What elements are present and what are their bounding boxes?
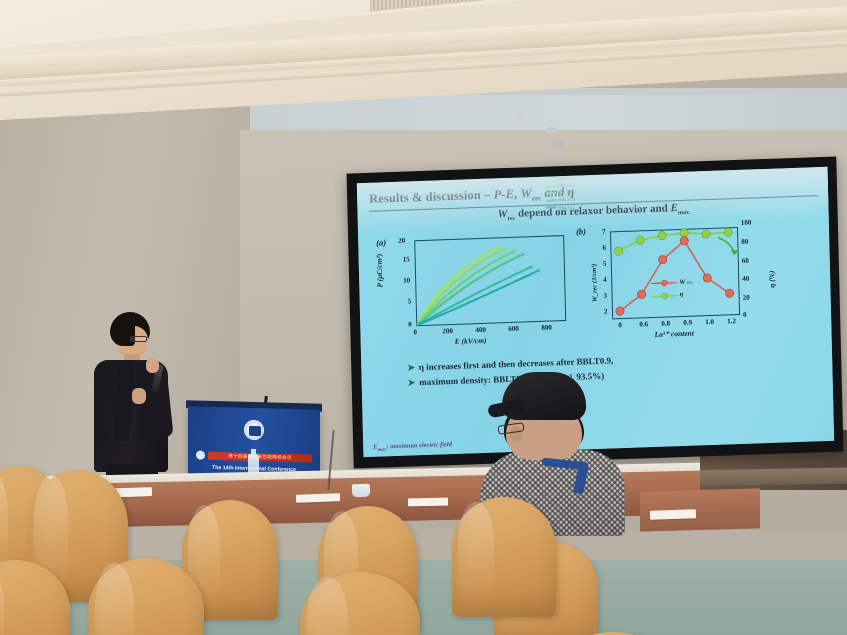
panel-a-xtick-600: 600 bbox=[508, 324, 519, 332]
paper-sheet bbox=[296, 493, 340, 503]
legend-item-5: BBLT1.2 bbox=[546, 203, 575, 211]
panel-b-rtick-80: 80 bbox=[741, 237, 748, 245]
panel-b-ytick-3: 3 bbox=[603, 291, 607, 299]
legend-swatch-icon bbox=[546, 193, 556, 195]
sprinkler-icon bbox=[552, 140, 563, 148]
panel-a-ytick-15: 15 bbox=[403, 255, 410, 263]
legend-item-eta: η bbox=[651, 289, 693, 303]
panel-b-rtick-100: 100 bbox=[741, 218, 752, 226]
panel-b-ytick-5: 5 bbox=[603, 259, 607, 267]
panel-a-xtick-0: 0 bbox=[413, 328, 417, 336]
panel-b-ylabel-left: W_rec (J/cm³) bbox=[591, 263, 599, 301]
panel-b-xtick-12: 1.2 bbox=[727, 317, 736, 325]
smoke-detector-icon bbox=[545, 127, 557, 134]
conference-logo-icon bbox=[244, 420, 264, 441]
panel-a-ylabel: P (μC/cm²) bbox=[375, 253, 385, 287]
panel-b-ytick-7: 7 bbox=[602, 227, 606, 235]
legend-line-icon bbox=[651, 279, 677, 287]
presenter-hand-upper bbox=[146, 358, 159, 373]
panel-b-rtick-20: 20 bbox=[743, 293, 750, 301]
legend-swatch-icon bbox=[546, 207, 556, 209]
legend-swatch-icon bbox=[546, 178, 556, 180]
slide-title-pe: P-E bbox=[493, 187, 514, 202]
legend-swatch-icon bbox=[546, 200, 556, 202]
panel-b-xtick-09: 0.9 bbox=[683, 318, 692, 326]
panel-a-ytick-0: 0 bbox=[408, 320, 412, 328]
panel-a-xlabel: E (kV/cm) bbox=[455, 335, 487, 345]
ceiling-light-icon bbox=[515, 112, 524, 123]
legend-line-icon bbox=[652, 292, 678, 300]
panel-a-xtick-800: 800 bbox=[541, 323, 552, 331]
panel-b-xtick-10: 1.0 bbox=[705, 318, 714, 326]
panel-a-ytick-20: 20 bbox=[398, 236, 405, 244]
panel-b-rtick-60: 60 bbox=[742, 256, 749, 264]
podium-chinese-text: 第十四届国际高性能陶瓷会议 bbox=[208, 451, 312, 462]
bullet-arrow-icon: ➤ bbox=[408, 378, 416, 388]
bullet-arrow-icon: ➤ bbox=[407, 362, 415, 372]
charts-container: (a) 20 15 10 5 0 0 200 400 600 800 E (kV… bbox=[370, 214, 822, 358]
slide-title-w: W bbox=[520, 186, 532, 200]
panel-a-legend: BBT BBLT0.6 BBLT0.8 BBLT0.9 BBLT1.0 BBLT… bbox=[545, 168, 575, 212]
legend-item-0: BBT bbox=[545, 168, 574, 176]
panel-b-xtick-08: 0.8 bbox=[661, 319, 670, 327]
wall-sensor-icon bbox=[272, 160, 281, 165]
panel-b-xtick-06: 0.6 bbox=[639, 320, 648, 328]
panel-a-label: (a) bbox=[376, 237, 386, 247]
panel-a-ytick-5: 5 bbox=[408, 297, 412, 305]
conference-room-scene: Results & discussion – P-E, Wrec and η W… bbox=[0, 0, 847, 635]
slide-footnote: Emax: maximum electric field bbox=[373, 441, 452, 453]
podium-badge-icon bbox=[196, 450, 205, 459]
panel-b-xlabel: La³⁺ content bbox=[654, 328, 694, 338]
panel-b-ytick-4: 4 bbox=[603, 275, 607, 283]
panel-b-label: (b) bbox=[576, 226, 586, 236]
panel-b-xtick-0: 0 bbox=[618, 321, 622, 329]
panel-b-rtick-0: 0 bbox=[743, 310, 747, 318]
panel-b-legend: Wrec η bbox=[651, 276, 693, 302]
panel-a-ytick-10: 10 bbox=[403, 276, 410, 284]
panel-b-ylabel-right: η (%) bbox=[767, 270, 776, 288]
paper-sheet bbox=[650, 509, 696, 520]
panel-b-series bbox=[610, 227, 740, 319]
panel-b-ytick-6: 6 bbox=[602, 243, 606, 251]
panel-a-xtick-200: 200 bbox=[442, 327, 453, 335]
panel-b-ytick-2: 2 bbox=[604, 307, 608, 315]
panel-a-curves bbox=[414, 235, 566, 326]
panel-a-xtick-400: 400 bbox=[475, 326, 486, 334]
presenter bbox=[88, 312, 180, 492]
paper-cup bbox=[352, 484, 370, 498]
panel-b-rtick-40: 40 bbox=[742, 274, 749, 282]
legend-swatch-icon bbox=[545, 171, 555, 173]
paper-sheet bbox=[408, 498, 448, 507]
presenter-hand-lower bbox=[132, 388, 146, 404]
chair bbox=[452, 497, 556, 617]
presenter-hair-front bbox=[111, 320, 135, 346]
slide-title-prefix: Results & discussion – bbox=[369, 187, 494, 205]
legend-swatch-icon bbox=[546, 185, 556, 187]
presenter-glasses-icon bbox=[130, 336, 147, 342]
